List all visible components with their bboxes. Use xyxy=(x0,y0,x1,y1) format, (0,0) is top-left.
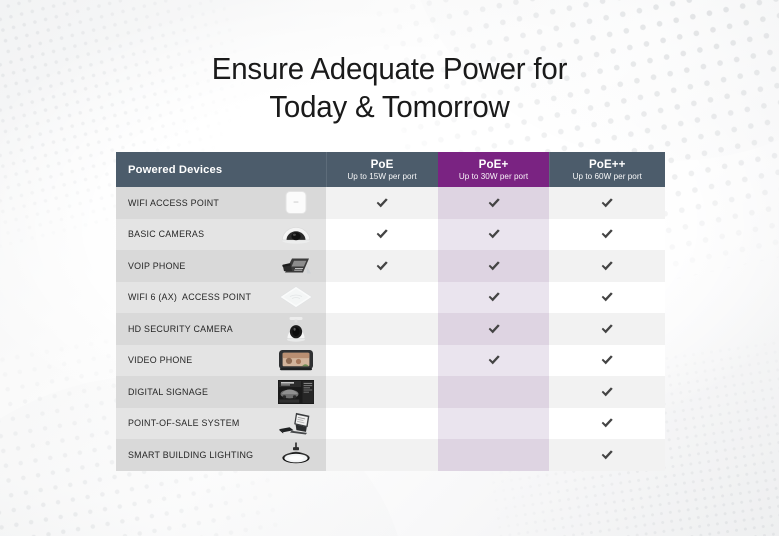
cell-poe xyxy=(326,345,438,377)
cell-poe-plus xyxy=(438,439,549,471)
voip-desk-phone-thumbnail xyxy=(276,252,316,279)
device-name-cell: VOIP PHONE xyxy=(116,250,326,282)
check-icon xyxy=(600,259,614,273)
cell-poe-plus-plus xyxy=(549,408,665,440)
device-label: VIDEO PHONE xyxy=(128,355,192,365)
high-bay-light-thumbnail xyxy=(276,441,316,468)
check-icon xyxy=(487,196,501,210)
column-header-poe-plus-plus-subtitle: Up to 60W per port xyxy=(550,171,666,182)
device-label: VOIP PHONE xyxy=(128,261,186,271)
table-row: HD SECURITY CAMERA xyxy=(116,313,665,345)
cell-poe-plus xyxy=(438,408,549,440)
table-row: SMART BUILDING LIGHTING xyxy=(116,439,665,471)
table-row: DIGITAL SIGNAGE xyxy=(116,376,665,408)
device-label: POINT-OF-SALE SYSTEM xyxy=(128,418,240,428)
cell-poe-plus-plus xyxy=(549,313,665,345)
column-header-poe-plus-title: PoE+ xyxy=(439,158,549,171)
table-row: VIDEO PHONE xyxy=(116,345,665,377)
digital-signage-display-thumbnail xyxy=(276,378,316,405)
check-icon xyxy=(375,259,389,273)
table-row: WIFI ACCESS POINT xyxy=(116,187,665,219)
check-icon xyxy=(600,416,614,430)
poe-comparison-table: Powered Devices PoE Up to 15W per port P… xyxy=(116,152,665,471)
cell-poe-plus-plus xyxy=(549,439,665,471)
page-title: Ensure Adequate Power for Today & Tomorr… xyxy=(19,50,759,126)
cell-poe-plus xyxy=(438,282,549,314)
column-header-poe-plus-subtitle: Up to 30W per port xyxy=(439,171,549,182)
pos-terminal-thumbnail xyxy=(276,410,316,437)
table-body: WIFI ACCESS POINTBASIC CAMERASVOIP PHONE… xyxy=(116,187,665,471)
column-header-poe-title: PoE xyxy=(327,158,438,171)
column-header-powered-devices: Powered Devices xyxy=(116,152,326,187)
device-name-cell: VIDEO PHONE xyxy=(116,345,326,377)
device-label: HD SECURITY CAMERA xyxy=(128,324,233,334)
cell-poe xyxy=(326,313,438,345)
table-row: BASIC CAMERAS xyxy=(116,219,665,251)
table-row: VOIP PHONE xyxy=(116,250,665,282)
device-name-cell: DIGITAL SIGNAGE xyxy=(116,376,326,408)
cell-poe xyxy=(326,282,438,314)
device-label: BASIC CAMERAS xyxy=(128,229,204,239)
table-row: POINT-OF-SALE SYSTEM xyxy=(116,408,665,440)
table-row: WIFI 6 (AX) ACCESS POINT xyxy=(116,282,665,314)
device-name-cell: WIFI ACCESS POINT xyxy=(116,187,326,219)
cell-poe xyxy=(326,250,438,282)
device-name-cell: BASIC CAMERAS xyxy=(116,219,326,251)
column-header-poe-plus: PoE+ Up to 30W per port xyxy=(438,152,549,187)
cell-poe-plus-plus xyxy=(549,187,665,219)
device-label: WIFI 6 (AX) ACCESS POINT xyxy=(128,292,251,302)
device-label: SMART BUILDING LIGHTING xyxy=(128,450,253,460)
wifi6-access-point-thumbnail xyxy=(276,284,316,311)
check-icon xyxy=(487,259,501,273)
table-header: Powered Devices PoE Up to 15W per port P… xyxy=(116,152,665,187)
check-icon xyxy=(600,448,614,462)
device-label: DIGITAL SIGNAGE xyxy=(128,387,208,397)
cell-poe-plus xyxy=(438,219,549,251)
column-header-poe-subtitle: Up to 15W per port xyxy=(327,171,438,182)
table-header-row: Powered Devices PoE Up to 15W per port P… xyxy=(116,152,665,187)
column-header-poe-plus-plus-title: PoE++ xyxy=(550,158,666,171)
dome-camera-thumbnail xyxy=(276,221,316,248)
cell-poe-plus-plus xyxy=(549,345,665,377)
cell-poe xyxy=(326,187,438,219)
cell-poe xyxy=(326,376,438,408)
check-icon xyxy=(600,385,614,399)
check-icon xyxy=(600,322,614,336)
cell-poe-plus xyxy=(438,313,549,345)
check-icon xyxy=(375,227,389,241)
cell-poe-plus xyxy=(438,250,549,282)
check-icon xyxy=(600,227,614,241)
cell-poe-plus-plus xyxy=(549,250,665,282)
device-name-cell: WIFI 6 (AX) ACCESS POINT xyxy=(116,282,326,314)
check-icon xyxy=(487,290,501,304)
wifi-access-point-thumbnail xyxy=(276,189,316,216)
turret-security-camera-thumbnail xyxy=(276,315,316,342)
device-name-cell: POINT-OF-SALE SYSTEM xyxy=(116,408,326,440)
cell-poe-plus xyxy=(438,187,549,219)
device-name-cell: HD SECURITY CAMERA xyxy=(116,313,326,345)
column-header-poe: PoE Up to 15W per port xyxy=(326,152,438,187)
device-label: WIFI ACCESS POINT xyxy=(128,198,219,208)
cell-poe-plus-plus xyxy=(549,376,665,408)
column-header-poe-plus-plus: PoE++ Up to 60W per port xyxy=(549,152,665,187)
check-icon xyxy=(375,196,389,210)
check-icon xyxy=(600,290,614,304)
cell-poe xyxy=(326,439,438,471)
cell-poe xyxy=(326,219,438,251)
check-icon xyxy=(487,353,501,367)
device-name-cell: SMART BUILDING LIGHTING xyxy=(116,439,326,471)
cell-poe xyxy=(326,408,438,440)
video-phone-thumbnail xyxy=(276,347,316,374)
check-icon xyxy=(600,196,614,210)
cell-poe-plus xyxy=(438,345,549,377)
cell-poe-plus-plus xyxy=(549,282,665,314)
check-icon xyxy=(487,227,501,241)
cell-poe-plus xyxy=(438,376,549,408)
check-icon xyxy=(600,353,614,367)
check-icon xyxy=(487,322,501,336)
cell-poe-plus-plus xyxy=(549,219,665,251)
